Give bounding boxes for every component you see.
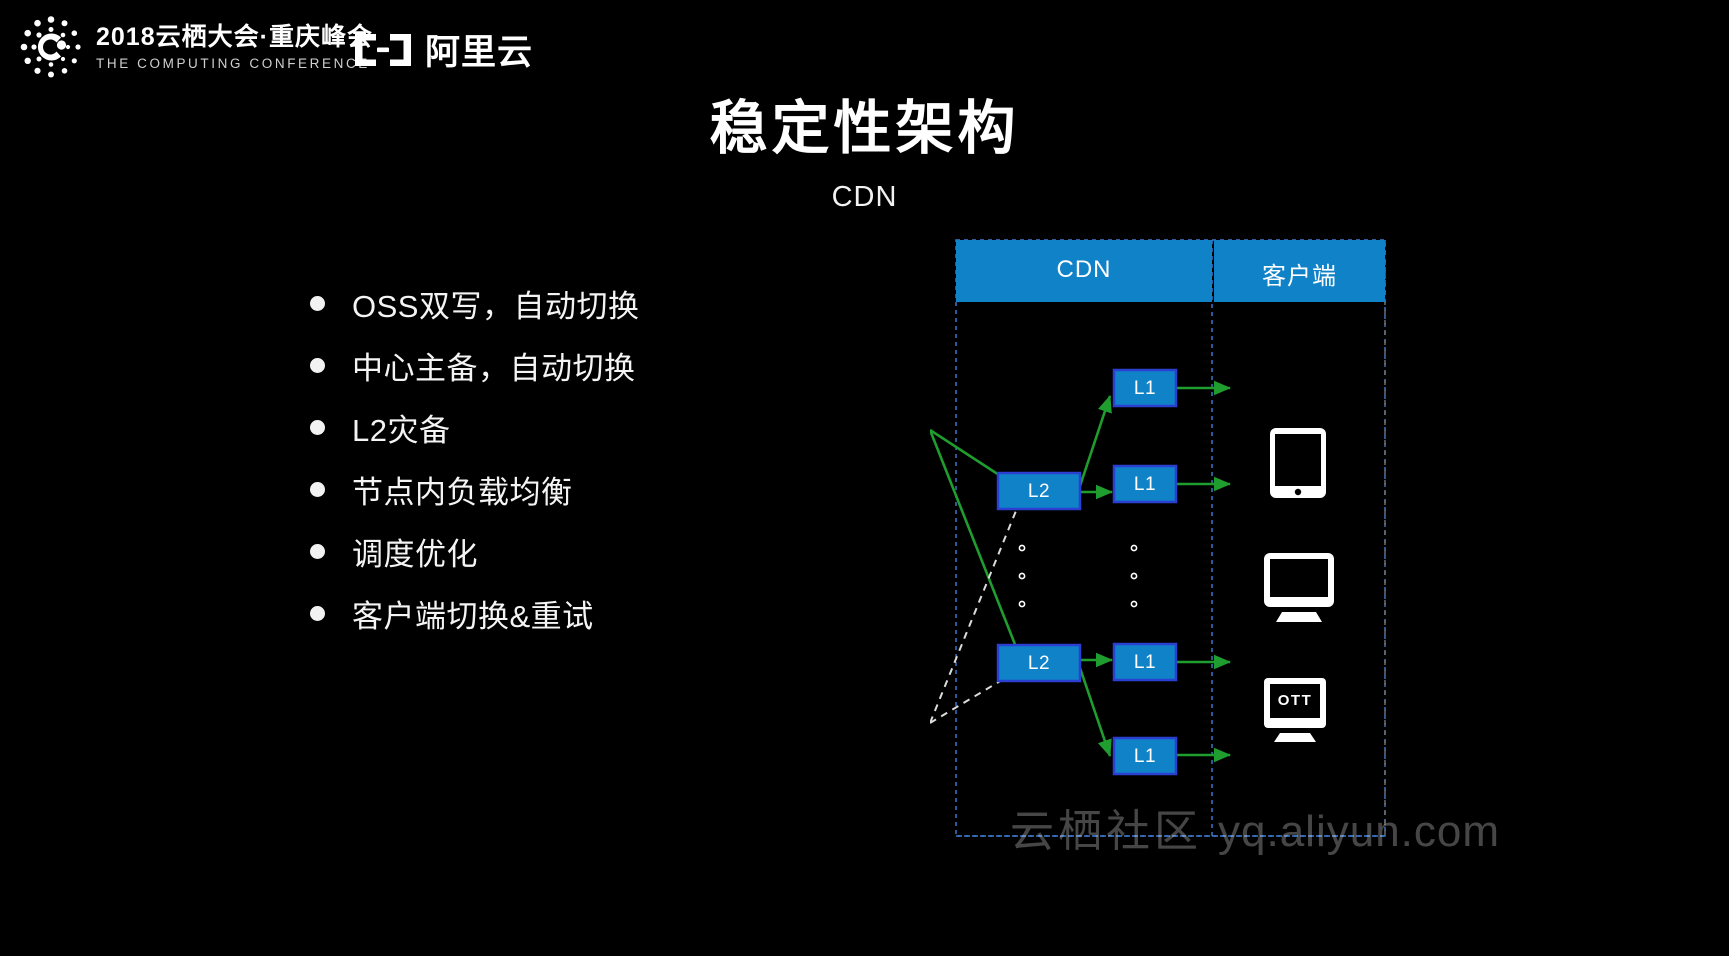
cdn-architecture-diagram: CDN 客户端 L2 L2 L1 L1 L1 L1 OTT bbox=[930, 228, 1570, 848]
slide-header: 2018云栖大会·重庆峰会 THE COMPUTING CONFERENCE 阿… bbox=[0, 0, 1729, 100]
alibaba-cloud-bracket-icon bbox=[352, 28, 414, 72]
bullet-label: 节点内负载均衡 bbox=[352, 467, 573, 512]
node-l1-2 bbox=[1114, 466, 1176, 502]
list-item: 节点内负载均衡 bbox=[310, 458, 850, 520]
l2top-to-l1-1-arrow bbox=[1080, 396, 1110, 486]
desktop-monitor-icon bbox=[1264, 553, 1334, 622]
tablet-icon bbox=[1270, 428, 1326, 498]
watermark-community: 云栖社区 bbox=[1010, 795, 1202, 859]
bullet-dot-icon bbox=[310, 606, 325, 621]
bullet-label: 中心主备，自动切换 bbox=[352, 343, 636, 388]
bullet-dot-icon bbox=[310, 420, 325, 435]
title-block: 稳定性架构 CDN bbox=[0, 96, 1729, 214]
bullet-label: 调度优化 bbox=[352, 529, 478, 574]
l2bot-to-l1-4-arrow bbox=[1080, 668, 1110, 756]
alibaba-cloud-name: 阿里云 bbox=[425, 24, 533, 75]
origin-to-l2-bottom-arrow bbox=[930, 430, 1022, 662]
bullet-dot-icon bbox=[310, 358, 325, 373]
bullet-label: L2灾备 bbox=[352, 405, 450, 450]
node-l2-top bbox=[998, 473, 1080, 509]
page-subtitle: CDN bbox=[0, 181, 1729, 214]
fallback-to-l2-top-arrow bbox=[930, 496, 1022, 723]
conference-title-en: THE COMPUTING CONFERENCE bbox=[96, 56, 373, 71]
list-item: 客户端切换&重试 bbox=[310, 582, 850, 644]
conference-logo: 2018云栖大会·重庆峰会 THE COMPUTING CONFERENCE bbox=[18, 14, 373, 80]
ellipsis-l1-column bbox=[1131, 545, 1136, 606]
watermark-url: yq.aliyun.com bbox=[1218, 807, 1500, 857]
cdn-header-bar bbox=[956, 240, 1212, 302]
list-item: OSS双写，自动切换 bbox=[310, 272, 850, 334]
bullet-list: OSS双写，自动切换 中心主备，自动切换 L2灾备 节点内负载均衡 调度优化 客… bbox=[310, 272, 850, 644]
node-l1-3 bbox=[1114, 644, 1176, 680]
bullet-dot-icon bbox=[310, 296, 325, 311]
client-header-bar bbox=[1214, 240, 1385, 302]
bullet-label: 客户端切换&重试 bbox=[352, 591, 594, 636]
bullet-dot-icon bbox=[310, 482, 325, 497]
conference-title-cn: 2018云栖大会·重庆峰会 bbox=[96, 23, 373, 53]
node-l1-4 bbox=[1114, 738, 1176, 774]
dotted-circle-c-icon bbox=[18, 14, 84, 80]
node-l2-bottom bbox=[998, 645, 1080, 681]
bullet-label: OSS双写，自动切换 bbox=[352, 281, 639, 326]
ellipsis-l2-column bbox=[1019, 545, 1024, 606]
watermark: 云栖社区 yq.aliyun.com bbox=[1010, 795, 1500, 859]
alibaba-cloud-logo: 阿里云 bbox=[352, 24, 533, 75]
diagram-canvas bbox=[930, 228, 1570, 848]
ott-monitor-icon bbox=[1264, 678, 1326, 742]
list-item: 调度优化 bbox=[310, 520, 850, 582]
list-item: 中心主备，自动切换 bbox=[310, 334, 850, 396]
page-title: 稳定性架构 bbox=[0, 96, 1729, 163]
list-item: L2灾备 bbox=[310, 396, 850, 458]
bullet-dot-icon bbox=[310, 544, 325, 559]
node-l1-1 bbox=[1114, 370, 1176, 406]
